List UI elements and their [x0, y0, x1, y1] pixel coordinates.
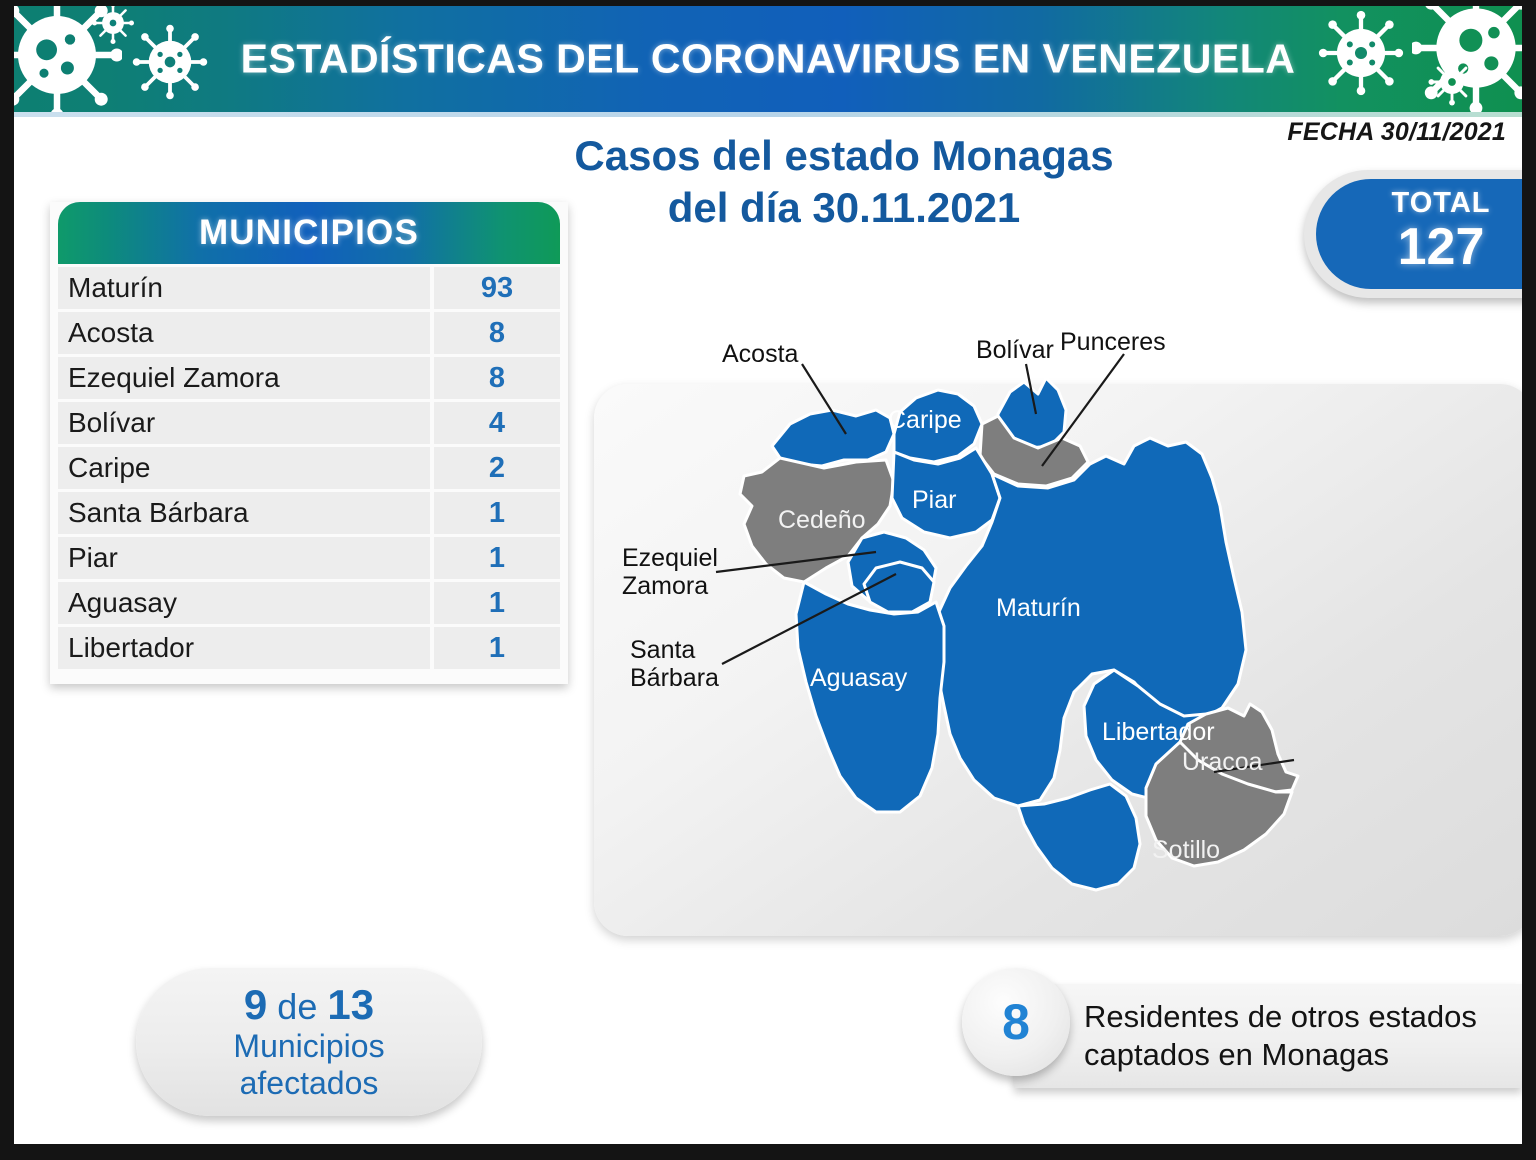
table-row: Caripe 2: [58, 447, 560, 489]
table-row: Piar 1: [58, 537, 560, 579]
municipio-count: 1: [434, 627, 560, 669]
affected-count: 9: [244, 981, 267, 1028]
municipio-name: Libertador: [58, 627, 430, 669]
municipio-count: 8: [434, 312, 560, 354]
table-row: Ezequiel Zamora 8: [58, 357, 560, 399]
callout-line-santa-barbara: [722, 574, 896, 664]
municipio-name: Caripe: [58, 447, 430, 489]
map-label-maturin: Maturín: [996, 594, 1081, 622]
map-label-cedeno: Cedeño: [778, 506, 866, 534]
table-row: Santa Bárbara 1: [58, 492, 560, 534]
map-label-caripe: Caripe: [888, 406, 962, 434]
total-label: TOTAL: [1316, 187, 1536, 220]
municipio-count: 1: [434, 537, 560, 579]
total-value: 127: [1316, 220, 1536, 275]
map-label-piar: Piar: [912, 486, 956, 514]
total-badge-inner: TOTAL 127: [1316, 179, 1536, 289]
callout-line-bolivar: [1026, 364, 1036, 414]
map-label-libertador: Libertador: [1102, 718, 1215, 746]
table-row: Bolívar 4: [58, 402, 560, 444]
infographic-root: ESTADÍSTICAS DEL CORONAVIRUS EN VENEZUEL…: [0, 0, 1536, 1160]
map-label-sotillo: Sotillo: [1152, 836, 1220, 864]
header-banner: ESTADÍSTICAS DEL CORONAVIRUS EN VENEZUEL…: [14, 6, 1522, 112]
residents-line1: Residentes de otros estados: [1084, 998, 1477, 1036]
residents-count-circle: 8: [962, 968, 1070, 1076]
municipios-table-header: MUNICIPIOS: [58, 202, 560, 264]
residents-count: 8: [1002, 993, 1030, 1051]
municipios-table-body: Maturín 93 Acosta 8 Ezequiel Zamora 8 Bo…: [50, 264, 568, 684]
municipio-count: 2: [434, 447, 560, 489]
callout-line-acosta: [802, 364, 846, 434]
page-title: ESTADÍSTICAS DEL CORONAVIRUS EN VENEZUEL…: [14, 36, 1522, 83]
municipio-count: 1: [434, 582, 560, 624]
map-label-ezequiel-zamora: Ezequiel Zamora: [622, 544, 718, 600]
affected-line2: Municipios: [233, 1028, 384, 1065]
table-row: Libertador 1: [58, 627, 560, 669]
municipios-table: MUNICIPIOS Maturín 93 Acosta 8 Ezequiel …: [50, 202, 568, 684]
municipio-name: Maturín: [58, 267, 430, 309]
map-label-acosta: Acosta: [722, 340, 798, 368]
table-row: Acosta 8: [58, 312, 560, 354]
municipio-name: Aguasay: [58, 582, 430, 624]
municipio-count: 1: [434, 492, 560, 534]
affected-total: 13: [327, 981, 374, 1028]
callout-line-ezequiel-zamora: [716, 552, 876, 572]
residents-line2: captados en Monagas: [1084, 1036, 1477, 1074]
map-label-uracoa: Uracoa: [1182, 748, 1263, 776]
callout-line-punceres: [1042, 354, 1124, 466]
date-label: FECHA 30/11/2021: [1287, 118, 1506, 147]
affected-connector: de: [277, 986, 317, 1027]
municipio-name: Ezequiel Zamora: [58, 357, 430, 399]
monagas-map: Acosta Bolívar Punceres Ezequiel Zamora …: [594, 306, 1534, 946]
map-label-aguasay: Aguasay: [810, 664, 907, 692]
table-row: Aguasay 1: [58, 582, 560, 624]
municipio-count: 4: [434, 402, 560, 444]
municipios-afectados-badge: 9 de 13 Municipios afectados: [136, 968, 482, 1116]
map-callout-lines: [594, 306, 1534, 946]
residents-text: Residentes de otros estados captados en …: [1084, 998, 1477, 1075]
municipio-name: Piar: [58, 537, 430, 579]
municipio-name: Bolívar: [58, 402, 430, 444]
municipio-name: Santa Bárbara: [58, 492, 430, 534]
municipio-count: 8: [434, 357, 560, 399]
affected-sub: Municipios afectados: [233, 1028, 384, 1102]
map-label-punceres: Punceres: [1060, 328, 1166, 356]
main-title-line1: Casos del estado Monagas: [394, 130, 1294, 182]
total-badge: TOTAL 127: [1304, 170, 1536, 298]
affected-ratio: 9 de 13: [244, 982, 374, 1028]
affected-line3: afectados: [233, 1065, 384, 1102]
map-label-santa-barbara: Santa Bárbara: [630, 636, 719, 692]
municipio-count: 93: [434, 267, 560, 309]
map-label-bolivar: Bolívar: [976, 336, 1054, 364]
table-row: Maturín 93: [58, 267, 560, 309]
residentes-otros-estados-bar: Residentes de otros estados captados en …: [1014, 984, 1522, 1088]
municipio-name: Acosta: [58, 312, 430, 354]
header-underline: [14, 112, 1522, 117]
